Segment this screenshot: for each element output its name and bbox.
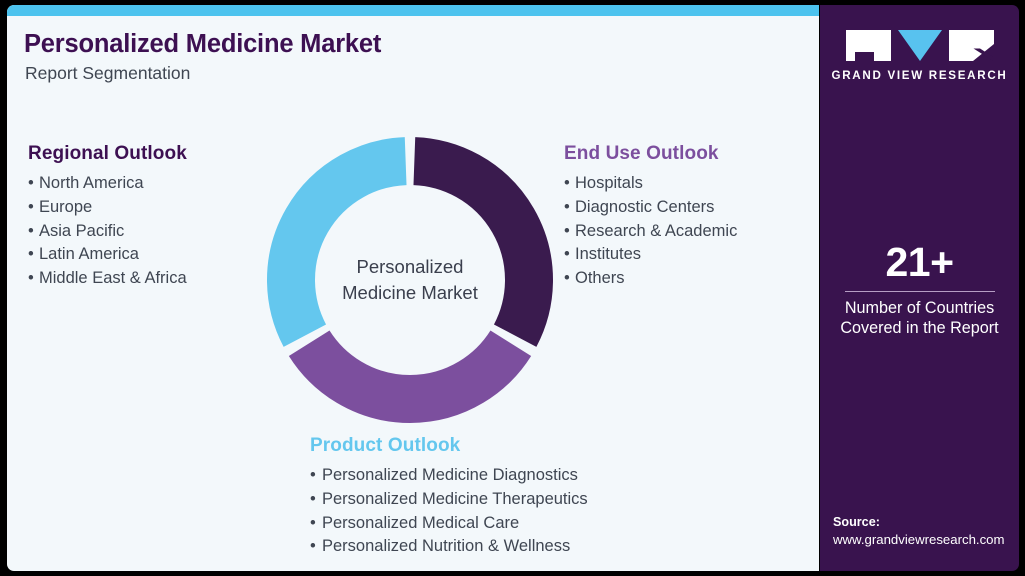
list-item-label: Others [575,269,625,287]
bullet-icon: • [28,243,39,267]
list-item-label: Personalized Medical Care [322,514,519,532]
list-item: •Personalized Medical Care [310,512,588,536]
list-item-label: Personalized Medicine Diagnostics [322,466,578,484]
end-use-outlook-block: End Use Outlook •Hospitals •Diagnostic C… [564,143,737,291]
list-item: •Hospitals [564,172,737,196]
stat-label-line-1: Number of Countries [820,298,1019,318]
list-item: •North America [28,172,187,196]
brand-panel: GRAND VIEW RESEARCH 21+ Number of Countr… [820,5,1019,571]
stat-value: 21+ [820,240,1019,284]
segmentation-donut-chart: Personalized Medicine Market [265,135,555,425]
bullet-icon: • [310,512,322,536]
page-subtitle: Report Segmentation [25,63,190,84]
bullet-icon: • [564,172,575,196]
gvr-logo: GRAND VIEW RESEARCH [820,30,1019,82]
bullet-icon: • [564,196,575,220]
list-item-label: Diagnostic Centers [575,198,714,216]
list-item: •Personalized Medicine Therapeutics [310,488,588,512]
gvr-logo-marks [846,30,994,62]
bullet-icon: • [28,267,39,291]
stat-label-line-2: Covered in the Report [820,318,1019,338]
list-item-label: Asia Pacific [39,222,124,240]
countries-stat: 21+ Number of Countries Covered in the R… [820,240,1019,338]
list-item-label: Institutes [575,245,641,263]
logo-v-icon [898,30,942,61]
accent-top-bar [7,5,819,16]
bullet-icon: • [310,488,322,512]
donut-segment [414,161,529,336]
source-block: Source: www.grandviewresearch.com [833,514,1019,549]
list-item: •Personalized Nutrition & Wellness [310,535,588,559]
list-item-label: North America [39,174,144,192]
end-use-outlook-heading: End Use Outlook [564,143,737,165]
bullet-icon: • [564,220,575,244]
source-url[interactable]: www.grandviewresearch.com [833,531,1019,549]
regional-outlook-heading: Regional Outlook [28,143,187,165]
bullet-icon: • [310,464,322,488]
donut-segment [291,161,406,336]
end-use-outlook-list: •Hospitals •Diagnostic Centers •Research… [564,172,737,291]
donut-svg [265,135,555,425]
bullet-icon: • [310,535,322,559]
gvr-wordmark: GRAND VIEW RESEARCH [832,69,1008,82]
list-item-label: Personalized Medicine Therapeutics [322,490,588,508]
list-item: •Others [564,267,737,291]
infographic-root: Personalized Medicine Market Report Segm… [0,0,1025,576]
list-item: •Latin America [28,243,187,267]
list-item-label: Hospitals [575,174,643,192]
logo-r-icon [949,30,994,61]
product-outlook-block: Product Outlook •Personalized Medicine D… [310,435,588,559]
page-title: Personalized Medicine Market [24,30,381,59]
regional-outlook-block: Regional Outlook •North America •Europe … [28,143,187,291]
list-item: •Europe [28,196,187,220]
list-item: •Middle East & Africa [28,267,187,291]
list-item-label: Personalized Nutrition & Wellness [322,537,570,555]
divider [845,291,995,292]
donut-segment [309,343,511,399]
bullet-icon: • [564,267,575,291]
main-card: Personalized Medicine Market Report Segm… [7,5,819,571]
list-item: •Research & Academic [564,220,737,244]
list-item: •Asia Pacific [28,220,187,244]
logo-g-icon [846,30,891,61]
regional-outlook-list: •North America •Europe •Asia Pacific •La… [28,172,187,291]
list-item: •Institutes [564,243,737,267]
list-item-label: Latin America [39,245,139,263]
source-heading: Source: [833,514,1019,531]
bullet-icon: • [28,172,39,196]
bullet-icon: • [564,243,575,267]
bullet-icon: • [28,196,39,220]
product-outlook-heading: Product Outlook [310,435,588,457]
bullet-icon: • [28,220,39,244]
list-item-label: Middle East & Africa [39,269,187,287]
list-item: •Diagnostic Centers [564,196,737,220]
list-item-label: Research & Academic [575,222,737,240]
product-outlook-list: •Personalized Medicine Diagnostics •Pers… [310,464,588,559]
list-item-label: Europe [39,198,92,216]
list-item: •Personalized Medicine Diagnostics [310,464,588,488]
